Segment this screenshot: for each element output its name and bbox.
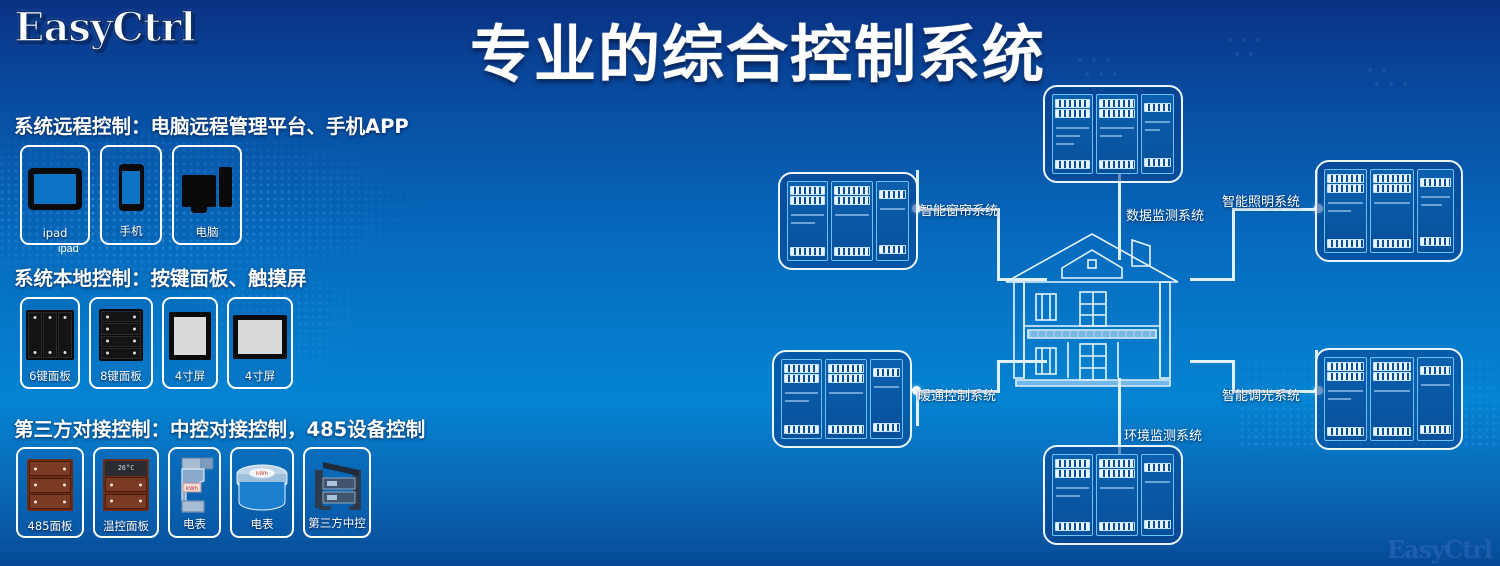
module-card-lighting[interactable] [1315, 160, 1463, 262]
device-card-label: 电表 [183, 516, 206, 532]
system-topology-diagram: 智能窗帘系统 数据监测系统 智能照明系统 暖通控制系统 智能调光系统 环境监测系… [740, 60, 1500, 566]
four-inch-screen-icon [164, 310, 216, 362]
diagram-label-dimming: 智能调光系统 [1222, 385, 1300, 404]
device-card-label: 电表 [251, 516, 274, 532]
section-heading-third-party-control: 第三方对接控制：中控对接控制，485设备控制 [14, 413, 425, 442]
diagram-label-lighting: 智能照明系统 [1222, 191, 1300, 210]
wire-light-join [1190, 278, 1235, 281]
device-card-computer[interactable]: 电脑 [172, 145, 242, 245]
diagram-label-environment: 环境监测系统 [1124, 425, 1202, 444]
device-card-ipad[interactable]: ipad [20, 145, 90, 245]
device-card-label: 手机 [120, 223, 143, 239]
eight-key-panel-icon [91, 307, 151, 363]
third-party-controller-icon [305, 457, 369, 513]
round-meter-icon: kWh [232, 461, 292, 513]
remote-control-card-row: ipad 手机 电脑 [20, 145, 242, 245]
device-card-6-key-panel[interactable]: 6键面板 [20, 297, 80, 389]
local-control-card-row: 6键面板 8键面板 4寸屏 4寸屏 [20, 297, 293, 389]
diagram-label-data: 数据监测系统 [1126, 205, 1204, 224]
rs485-panel-icon [18, 458, 82, 512]
device-card-third-party-controller[interactable]: 第三方中控 [303, 447, 371, 538]
device-card-label: 温控面板 [103, 518, 149, 534]
device-card-label: 4寸屏 [175, 368, 205, 384]
thermostat-lcd-value: 26°C [105, 461, 147, 476]
section-heading-remote-control: 系统远程控制：电脑远程管理平台、手机APP [14, 110, 409, 139]
villa-house-icon [992, 220, 1192, 390]
device-card-485-panel[interactable]: 485面板 [16, 447, 84, 538]
module-card-dimming[interactable] [1315, 348, 1463, 450]
device-card-4-inch-screen-wide[interactable]: 4寸屏 [227, 297, 293, 389]
module-card-hvac[interactable] [772, 350, 912, 448]
third-party-card-row: 485面板 26°C 温控面板 kWh [16, 447, 371, 538]
thermostat-panel-icon: 26°C [95, 458, 157, 512]
device-card-electric-meter[interactable]: kWh 电表 [168, 447, 221, 538]
diagram-label-curtain: 智能窗帘系统 [920, 200, 998, 219]
device-card-8-key-panel[interactable]: 8键面板 [89, 297, 153, 389]
device-card-label: 第三方中控 [308, 515, 366, 531]
watermark-logo: EasyCtrl [1387, 535, 1492, 564]
poster-canvas: EasyCtrl 专业的综合控制系统 系统远程控制：电脑远程管理平台、手机APP… [0, 0, 1500, 566]
device-card-label: 4寸屏 [245, 368, 275, 384]
smartphone-icon [102, 160, 160, 214]
device-card-thermostat-panel[interactable]: 26°C 温控面板 [93, 447, 159, 538]
device-card-label: 电脑 [196, 224, 219, 240]
brand-logo: EasyCtrl [14, 4, 195, 51]
device-card-label: 8键面板 [100, 368, 142, 384]
device-card-label: 6键面板 [29, 368, 71, 384]
module-card-curtain[interactable] [778, 172, 918, 270]
six-key-panel-icon [22, 308, 78, 362]
device-card-round-meter[interactable]: kWh 电表 [230, 447, 294, 538]
tablet-icon [22, 163, 88, 215]
electric-meter-icon: kWh [170, 455, 219, 515]
device-card-4-inch-screen[interactable]: 4寸屏 [162, 297, 218, 389]
device-card-phone[interactable]: 手机 [100, 145, 162, 245]
diagram-label-hvac: 暖通控制系统 [918, 385, 996, 404]
four-inch-screen-wide-icon [229, 313, 291, 361]
module-card-environment[interactable] [1043, 445, 1183, 545]
wire-dim-join [1190, 360, 1235, 363]
wire-light-in [1232, 208, 1235, 280]
stray-ipad-caption: ipad [58, 243, 79, 255]
desktop-computer-icon [174, 161, 240, 213]
meter-tag-text: kWh [185, 486, 198, 492]
module-card-data[interactable] [1043, 85, 1183, 183]
section-heading-local-control: 系统本地控制：按键面板、触摸屏 [14, 262, 307, 291]
device-card-label: 485面板 [28, 518, 73, 534]
meter-tag-text: kWh [256, 471, 269, 477]
device-card-label: ipad [43, 226, 68, 240]
